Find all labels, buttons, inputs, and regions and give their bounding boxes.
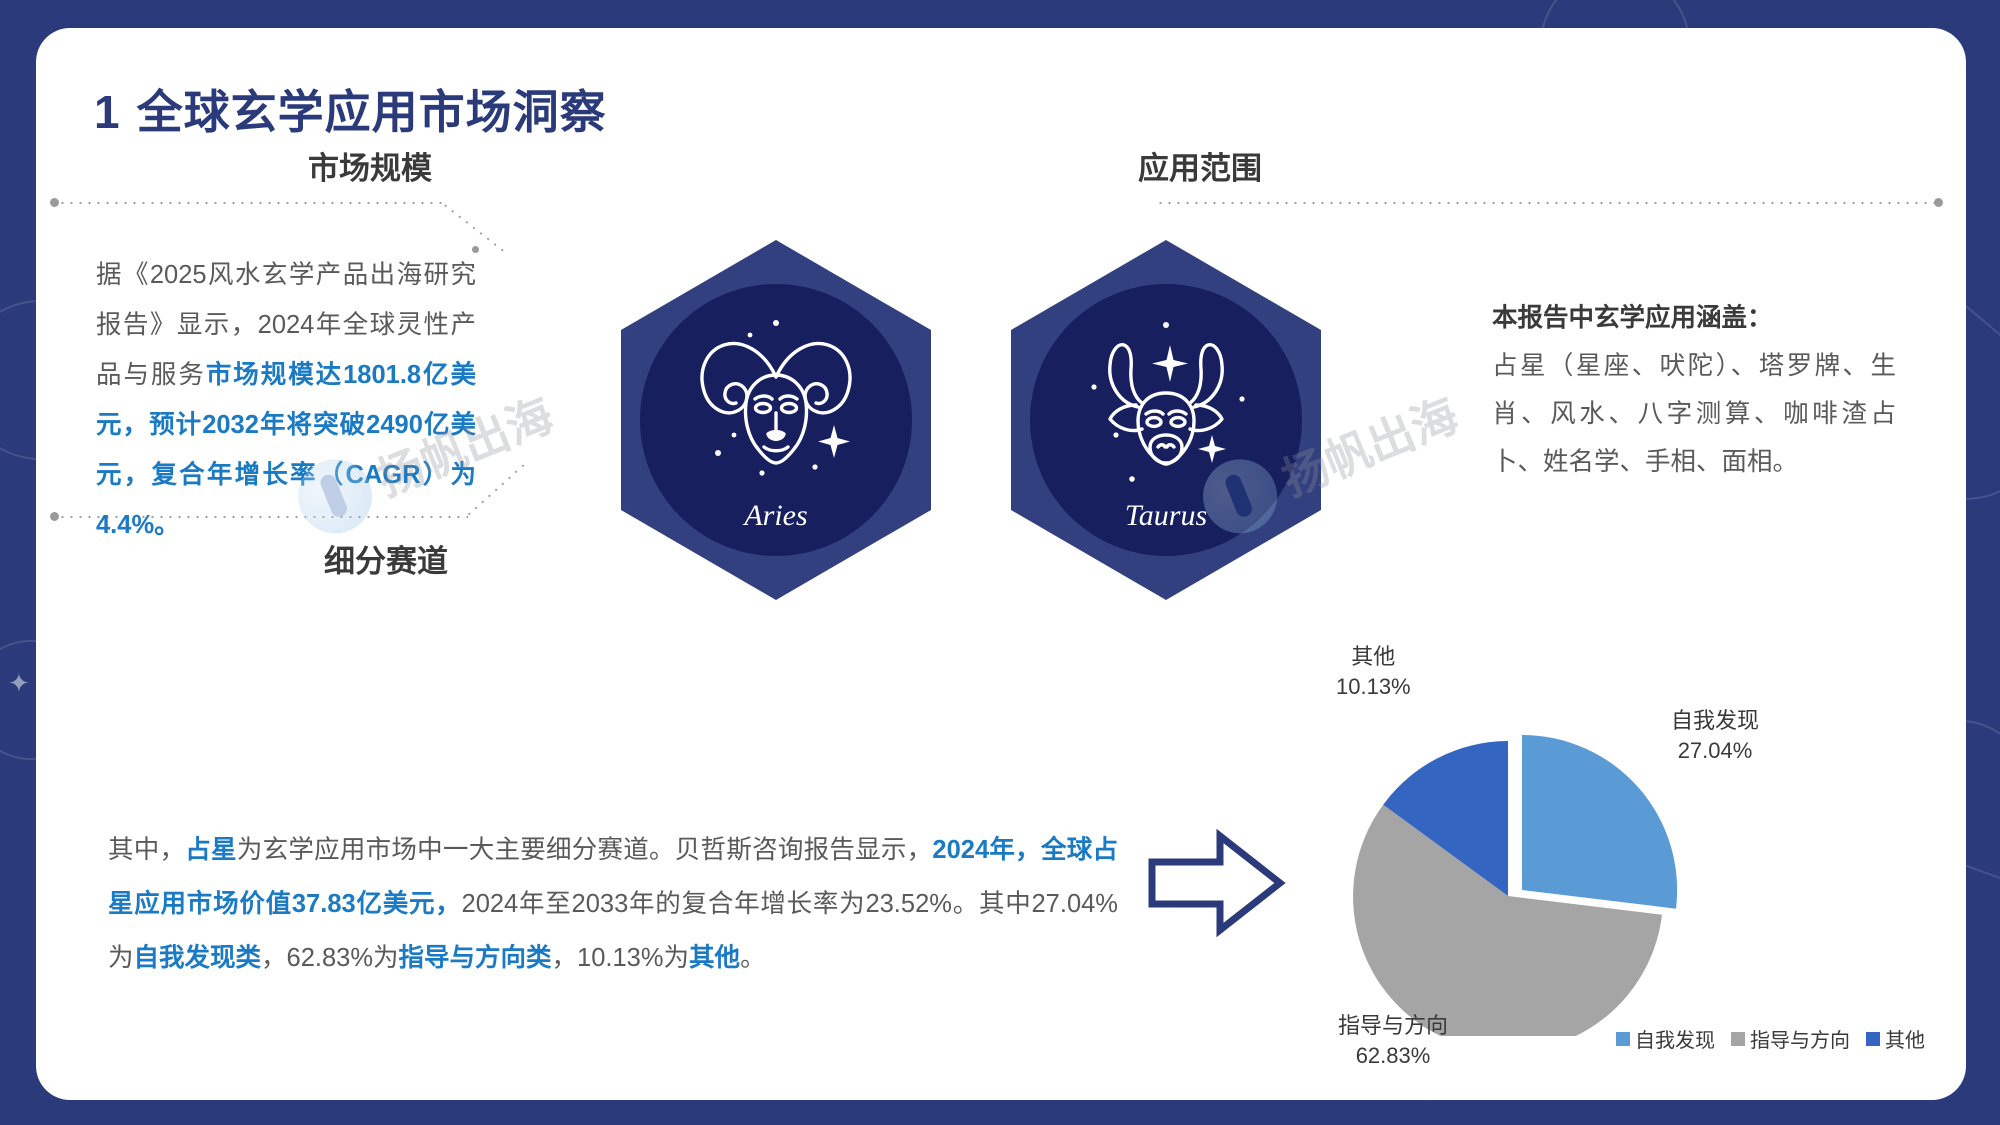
seg-plain-4: ，62.83%为: [261, 944, 399, 972]
pie-label-guide-name: 指导与方向: [1338, 1013, 1448, 1038]
legend-label-guidance: 指导与方向: [1750, 1024, 1850, 1053]
section-label-market-size: 市场规模: [308, 143, 432, 188]
pie-label-guide-value: 62.83%: [1356, 1043, 1431, 1068]
connector-line-market: [58, 202, 444, 204]
segment-paragraph: 其中，占星为玄学应用市场中一大主要细分赛道。贝哲斯咨询报告显示，2024年，全球…: [108, 823, 1118, 985]
zodiac-name-aries: Aries: [744, 499, 807, 533]
section-label-scope: 应用范围: [1138, 143, 1262, 188]
connector-line-scope: [1156, 202, 1938, 204]
legend-swatch-guidance: [1731, 1032, 1745, 1046]
page-title-number: 1: [94, 86, 121, 138]
zodiac-badge-aries: Aries: [621, 240, 931, 600]
pie-chart: 其他 10.13% 自我发现 27.04% 指导与方向 62.83% 自我发现 …: [1326, 636, 1966, 1096]
seg-highlight-1: 占星: [185, 836, 237, 864]
slide-card: 1全球玄学应用市场洞察 市场规模 应用范围 细分赛道 据《2025风水玄学产品出…: [36, 28, 1966, 1100]
pie-label-other-name: 其他: [1351, 644, 1395, 669]
sparkle-icon: ✦: [8, 670, 30, 696]
seg-plain-2: 为玄学应用市场中一大主要细分赛道。贝哲斯咨询报告显示，: [237, 836, 933, 864]
legend-item-guidance: 指导与方向: [1731, 1024, 1850, 1053]
pie-label-other: 其他 10.13%: [1336, 642, 1411, 702]
legend-item-self-discovery: 自我发现: [1616, 1024, 1715, 1053]
zodiac-name-taurus: Taurus: [1125, 499, 1207, 533]
scope-heading: 本报告中玄学应用涵盖：: [1492, 294, 1896, 342]
legend-item-other: 其他: [1866, 1024, 1925, 1053]
page-title: 1全球玄学应用市场洞察: [94, 76, 607, 142]
scope-body: 占星（星座、吠陀）、塔罗牌、生肖、风水、八字测算、咖啡渣占卜、姓名学、手相、面相…: [1492, 352, 1896, 476]
pie-label-self-discovery: 自我发现 27.04%: [1671, 706, 1759, 766]
dot-cap: [1934, 198, 1943, 207]
seg-plain-5: ，10.13%为: [552, 944, 690, 972]
right-arrow-icon: [1146, 828, 1286, 938]
legend-label-self-discovery: 自我发现: [1635, 1024, 1715, 1053]
seg-plain-6: 。: [740, 944, 766, 972]
bull-head-icon: [1066, 307, 1266, 497]
page-title-text: 全球玄学应用市场洞察: [137, 86, 607, 138]
pie-label-self-name: 自我发现: [1671, 708, 1759, 733]
legend-swatch-other: [1866, 1032, 1880, 1046]
pie-chart-legend: 自我发现 指导与方向 其他: [1616, 1024, 1935, 1053]
pie-label-self-value: 27.04%: [1678, 738, 1753, 763]
zodiac-badge-taurus: Taurus: [1011, 240, 1321, 600]
seg-plain-1: 其中，: [108, 836, 185, 864]
pie-label-other-value: 10.13%: [1336, 674, 1411, 699]
seg-highlight-3: 自我发现类: [134, 944, 262, 972]
market-size-paragraph: 据《2025风水玄学产品出海研究报告》显示，2024年全球灵性产品与服务市场规模…: [96, 250, 476, 550]
ram-head-icon: [676, 307, 876, 497]
seg-highlight-4: 指导与方向类: [399, 944, 552, 972]
pie-label-guidance: 指导与方向 62.83%: [1338, 1011, 1448, 1071]
seg-highlight-5: 其他: [689, 944, 740, 972]
scope-paragraph: 本报告中玄学应用涵盖：占星（星座、吠陀）、塔罗牌、生肖、风水、八字测算、咖啡渣占…: [1492, 294, 1896, 486]
legend-label-other: 其他: [1885, 1024, 1925, 1053]
legend-swatch-self-discovery: [1616, 1032, 1630, 1046]
